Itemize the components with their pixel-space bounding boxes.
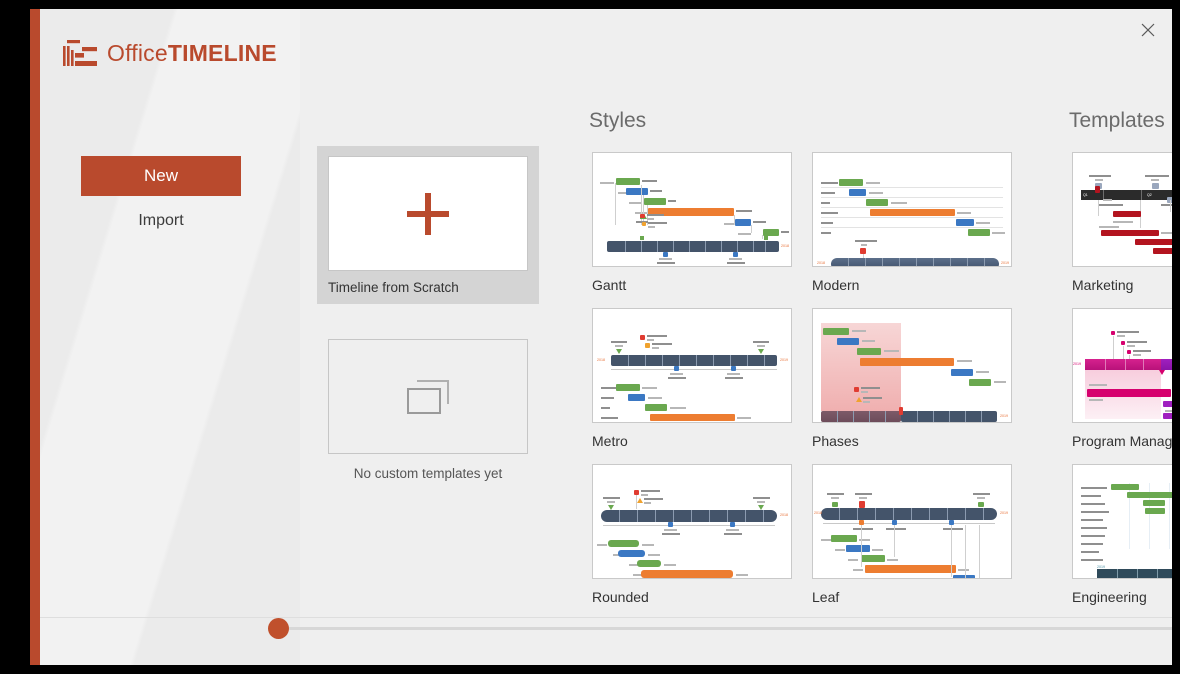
custom-templates-tile[interactable]: No custom templates yet (328, 339, 528, 481)
mini-timeline-art: Q1 Q2 (1073, 153, 1172, 266)
custom-templates-thumbnail (328, 339, 528, 454)
style-label-metro: Metro (592, 433, 792, 449)
style-card-phases[interactable]: 2019 Phases (812, 308, 1012, 449)
styles-heading: Styles (589, 109, 646, 133)
template-label-engineering: Engineering (1072, 589, 1172, 605)
mini-timeline-art: 2019 (813, 309, 1011, 422)
style-label-modern: Modern (812, 277, 1012, 293)
office-timeline-logo-icon (63, 40, 97, 66)
style-label-phases: Phases (812, 433, 1012, 449)
brand-name-bold: TIMELINE (168, 40, 277, 66)
scratch-thumbnail[interactable] (328, 156, 528, 271)
empty-templates-icon (407, 380, 449, 414)
scrollbar-track[interactable] (287, 627, 1172, 630)
template-card-engineering[interactable]: 2019 Engineering (1072, 464, 1172, 605)
timeline-from-scratch-tile[interactable]: Timeline from Scratch (317, 146, 539, 304)
custom-templates-label: No custom templates yet (328, 466, 528, 481)
close-icon[interactable] (1130, 13, 1166, 47)
style-thumbnail-metro[interactable]: 2018 2019 (592, 308, 792, 423)
style-label-gantt: Gantt (592, 277, 792, 293)
template-card-program-management[interactable]: 2019 Program Management (1072, 308, 1172, 449)
template-label-program-management: Program Management (1072, 433, 1172, 449)
style-thumbnail-leaf[interactable]: 2018 2019 (812, 464, 1012, 579)
brand-name-light: Office (107, 40, 168, 66)
template-thumbnail-program-management[interactable]: 2019 (1072, 308, 1172, 423)
mini-timeline-art: 2018 2019 (593, 309, 791, 422)
style-thumbnail-phases[interactable]: 2019 (812, 308, 1012, 423)
app-logo: OfficeTIMELINE (40, 35, 277, 71)
templates-heading: Templates (1069, 109, 1165, 133)
mini-timeline-art: 2018 (593, 153, 791, 266)
accent-strip (30, 9, 40, 665)
mini-timeline-art: 2018 2019 (813, 465, 1011, 578)
style-label-leaf: Leaf (812, 589, 1012, 605)
dialog-content: OfficeTIMELINE New Import Timeline from … (30, 9, 1172, 665)
style-card-leaf[interactable]: 2018 2019 (812, 464, 1012, 605)
mini-timeline-art: 2019 (1073, 309, 1172, 422)
style-card-metro[interactable]: 2018 2019 (592, 308, 792, 449)
mini-timeline-art: 2019 (1073, 465, 1172, 578)
template-card-marketing[interactable]: Q1 Q2 (1072, 152, 1172, 293)
scratch-label: Timeline from Scratch (328, 280, 539, 295)
mini-timeline-art: 2018 (593, 465, 791, 578)
dialog-window: OfficeTIMELINE New Import Timeline from … (0, 0, 1180, 674)
style-thumbnail-gantt[interactable]: 2018 (592, 152, 792, 267)
import-button[interactable]: Import (81, 212, 241, 230)
template-thumbnail-engineering[interactable]: 2019 (1072, 464, 1172, 579)
style-thumbnail-modern[interactable]: 2018 2019 (812, 152, 1012, 267)
style-card-gantt[interactable]: 2018 Gantt (592, 152, 792, 293)
template-label-marketing: Marketing (1072, 277, 1172, 293)
mini-timeline-art: 2018 2019 (813, 153, 1011, 266)
style-label-rounded: Rounded (592, 589, 792, 605)
app-title: OfficeTIMELINE (107, 40, 277, 67)
template-thumbnail-marketing[interactable]: Q1 Q2 (1072, 152, 1172, 267)
style-card-modern[interactable]: 2018 2019 Modern (812, 152, 1012, 293)
new-button[interactable]: New (81, 156, 241, 196)
left-navigation: New Import (81, 156, 241, 230)
scrollbar-handle[interactable] (268, 618, 289, 639)
horizontal-scrollbar[interactable] (40, 613, 1172, 643)
style-card-rounded[interactable]: 2018 (592, 464, 792, 605)
plus-icon (407, 193, 449, 235)
style-thumbnail-rounded[interactable]: 2018 (592, 464, 792, 579)
background-sheen (40, 9, 300, 665)
